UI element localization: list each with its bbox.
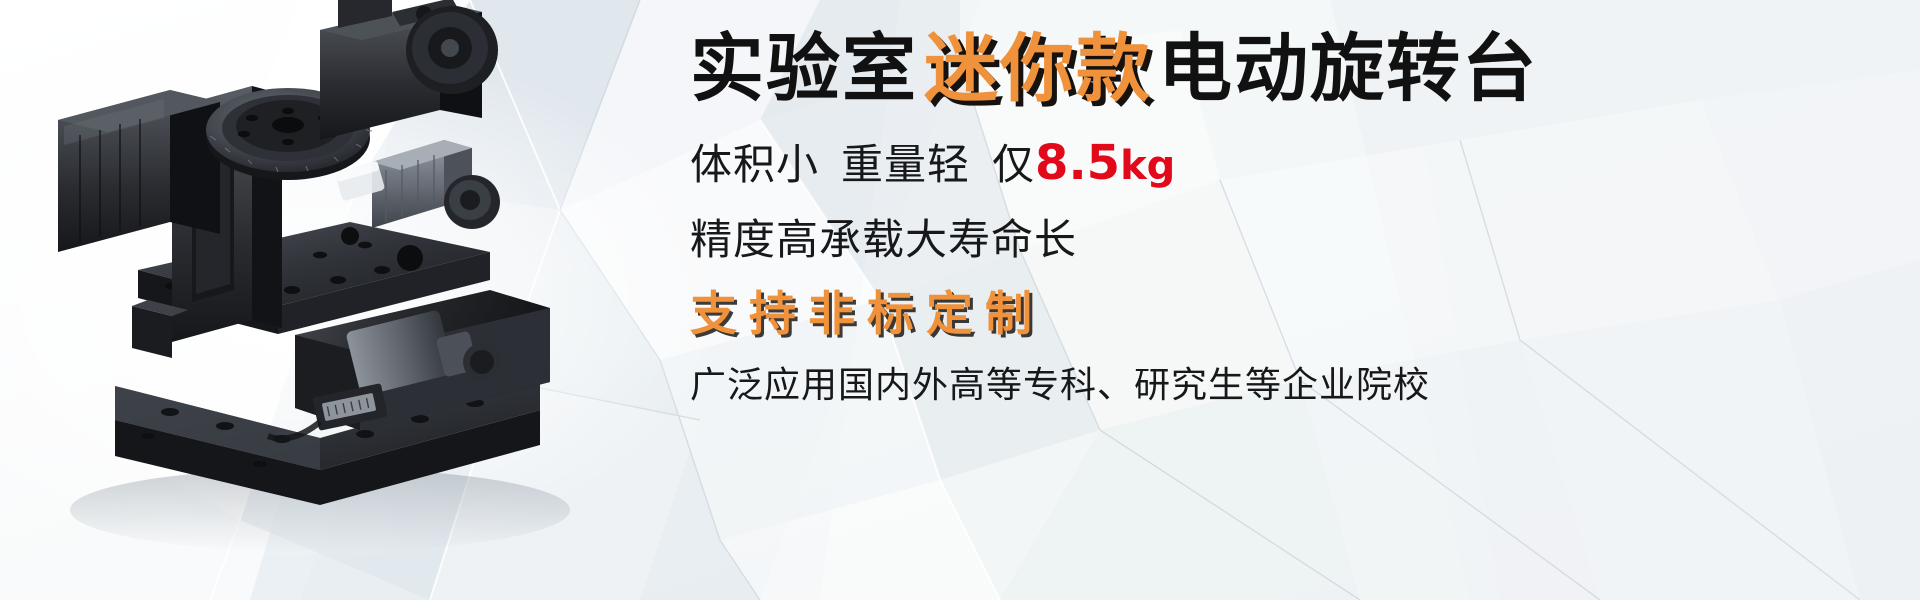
feature-item-load: 承载大	[819, 215, 948, 264]
feature-line-1: 体积小重量轻仅8.5kg	[690, 135, 1920, 193]
weight-number: 8.5	[1035, 135, 1120, 191]
copy-block: 实验室迷你款电动旋转台 体积小重量轻仅8.5kg 精度高承载大寿命长 支持非标定…	[690, 0, 1920, 600]
weight-prefix: 仅	[992, 140, 1035, 189]
custom-support-line: 支持非标定制	[690, 287, 1920, 343]
product-image	[20, 0, 660, 600]
weight-unit: kg	[1120, 143, 1175, 189]
application-line: 广泛应用国内外高等专科、研究生等企业院校	[690, 364, 1920, 407]
headline-part2: 电动旋转台	[1158, 26, 1538, 112]
headline-part1: 实验室	[690, 26, 918, 112]
headline-accent: 迷你款	[918, 26, 1158, 112]
feature-item-weight: 重量轻	[841, 140, 970, 189]
feature-item-precision: 精度高	[690, 215, 819, 264]
feature-item-volume: 体积小	[690, 140, 819, 189]
weight-value: 8.5kg	[1035, 135, 1175, 191]
feature-line-2: 精度高承载大寿命长	[690, 215, 1920, 265]
feature-item-lifespan: 寿命长	[948, 215, 1077, 264]
headline: 实验室迷你款电动旋转台	[690, 26, 1920, 113]
product-banner: 实验室迷你款电动旋转台 体积小重量轻仅8.5kg 精度高承载大寿命长 支持非标定…	[0, 0, 1920, 600]
